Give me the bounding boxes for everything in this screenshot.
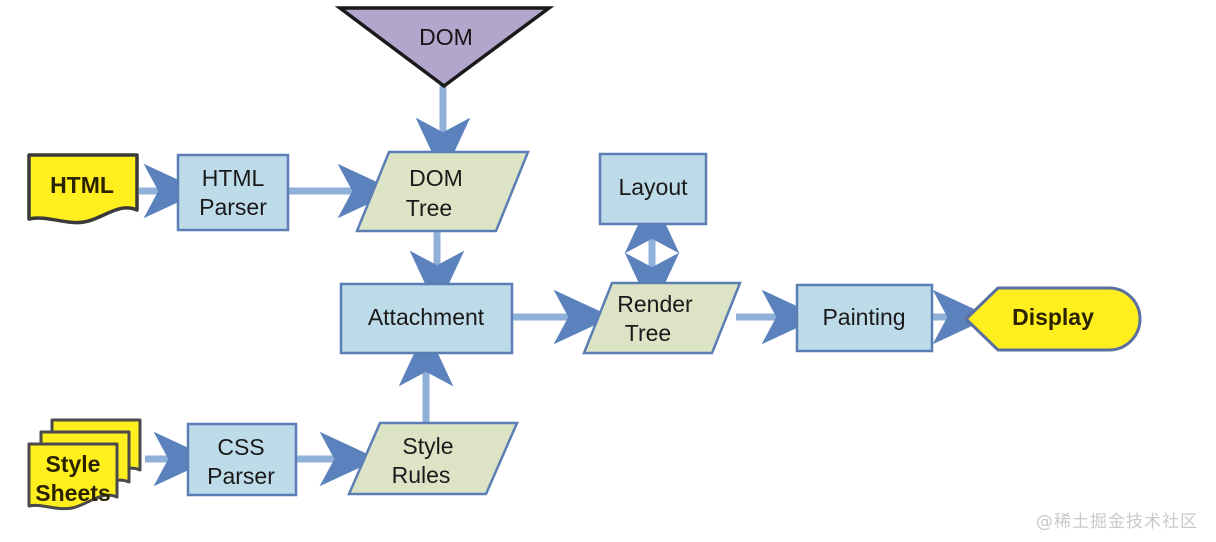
node-html[interactable]: HTML: [29, 155, 137, 223]
dom-triangle-shape[interactable]: [340, 8, 549, 86]
node-style-sheets[interactable]: Style Sheets: [29, 420, 140, 509]
node-style-rules[interactable]: Style Rules: [349, 423, 517, 494]
style-sheets-front-shape[interactable]: [29, 444, 117, 509]
display-terminator-shape[interactable]: [966, 288, 1140, 350]
dom-tree-parallelogram-shape[interactable]: [357, 152, 528, 231]
style-rules-parallelogram-shape[interactable]: [349, 423, 517, 494]
node-dom-tree[interactable]: DOM Tree: [357, 152, 528, 231]
css-parser-box-shape[interactable]: [188, 424, 296, 495]
render-tree-parallelogram-shape[interactable]: [584, 283, 740, 353]
node-css-parser[interactable]: CSS Parser: [188, 424, 296, 495]
attachment-box-shape[interactable]: [341, 284, 512, 353]
diagram-canvas: DOM HTML HTML Parser DOM Tree Layout Att…: [0, 0, 1216, 542]
watermark: @稀土掘金技术社区: [1036, 507, 1198, 532]
node-attachment[interactable]: Attachment: [341, 284, 512, 353]
node-layout[interactable]: Layout: [600, 154, 706, 224]
node-display[interactable]: Display: [966, 288, 1140, 350]
node-dom[interactable]: DOM: [340, 8, 549, 86]
layout-box-shape[interactable]: [600, 154, 706, 224]
rendering-pipeline-diagram: DOM HTML HTML Parser DOM Tree Layout Att…: [0, 0, 1216, 542]
node-painting[interactable]: Painting: [797, 285, 932, 351]
edges-layer: [139, 80, 962, 459]
painting-box-shape[interactable]: [797, 285, 932, 351]
node-render-tree[interactable]: Render Tree: [584, 283, 740, 353]
html-parser-box-shape[interactable]: [178, 155, 288, 230]
node-html-parser[interactable]: HTML Parser: [178, 155, 288, 230]
html-document-shape[interactable]: [29, 155, 137, 223]
